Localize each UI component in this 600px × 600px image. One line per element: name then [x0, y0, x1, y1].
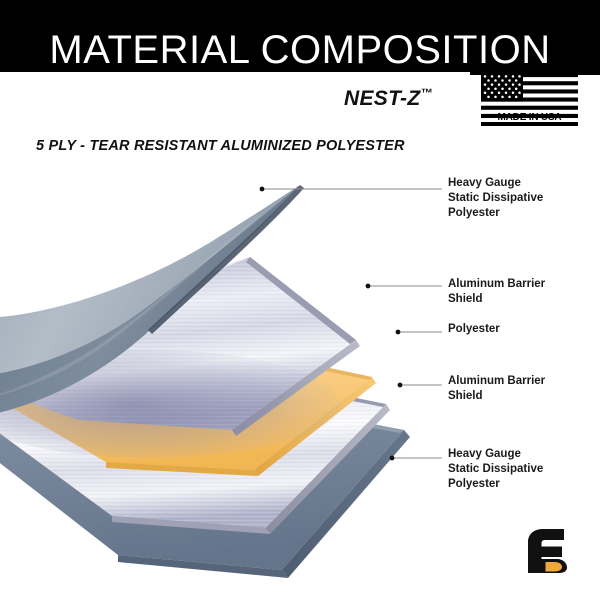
- leader-dot-2: [366, 284, 371, 289]
- leader-dot-4: [398, 383, 403, 388]
- callout-line: Heavy Gauge: [448, 176, 543, 191]
- callout-line: Heavy Gauge: [448, 447, 543, 462]
- leader-dot-1: [260, 187, 265, 192]
- trademark-symbol: ™: [420, 86, 432, 100]
- callout-line: Polyester: [448, 206, 543, 221]
- callout-line: Static Dissipative: [448, 462, 543, 477]
- callout-label-aluminum-barrier-lower: Aluminum Barrier Shield: [448, 374, 545, 404]
- callout-line: Shield: [448, 292, 545, 307]
- callout-line: Shield: [448, 389, 545, 404]
- callout-line: Static Dissipative: [448, 191, 543, 206]
- brand-name: NEST-Z™: [344, 86, 433, 111]
- callout-line: Aluminum Barrier: [448, 374, 545, 389]
- callout-label-aluminum-barrier-upper: Aluminum Barrier Shield: [448, 277, 545, 307]
- callout-line: Polyester: [448, 322, 500, 337]
- callout-label-heavy-gauge-bottom: Heavy Gauge Static Dissipative Polyester: [448, 447, 543, 492]
- page-title: MATERIAL COMPOSITION: [0, 0, 600, 72]
- made-in-usa-label: MADE IN USA: [481, 112, 578, 123]
- callout-line: Aluminum Barrier: [448, 277, 545, 292]
- subtitle: 5 PLY - TEAR RESISTANT ALUMINIZED POLYES…: [36, 138, 405, 154]
- brand-name-text: NEST-Z: [344, 87, 420, 110]
- material-composition-infographic: MATERIAL COMPOSITION NEST-Z™: [0, 0, 600, 600]
- leader-dot-3: [396, 330, 401, 335]
- callout-label-polyester: Polyester: [448, 322, 500, 337]
- callout-label-heavy-gauge-top: Heavy Gauge Static Dissipative Polyester: [448, 176, 543, 221]
- company-f-logo: [524, 526, 572, 576]
- callout-line: Polyester: [448, 477, 543, 492]
- leader-dot-5: [390, 456, 395, 461]
